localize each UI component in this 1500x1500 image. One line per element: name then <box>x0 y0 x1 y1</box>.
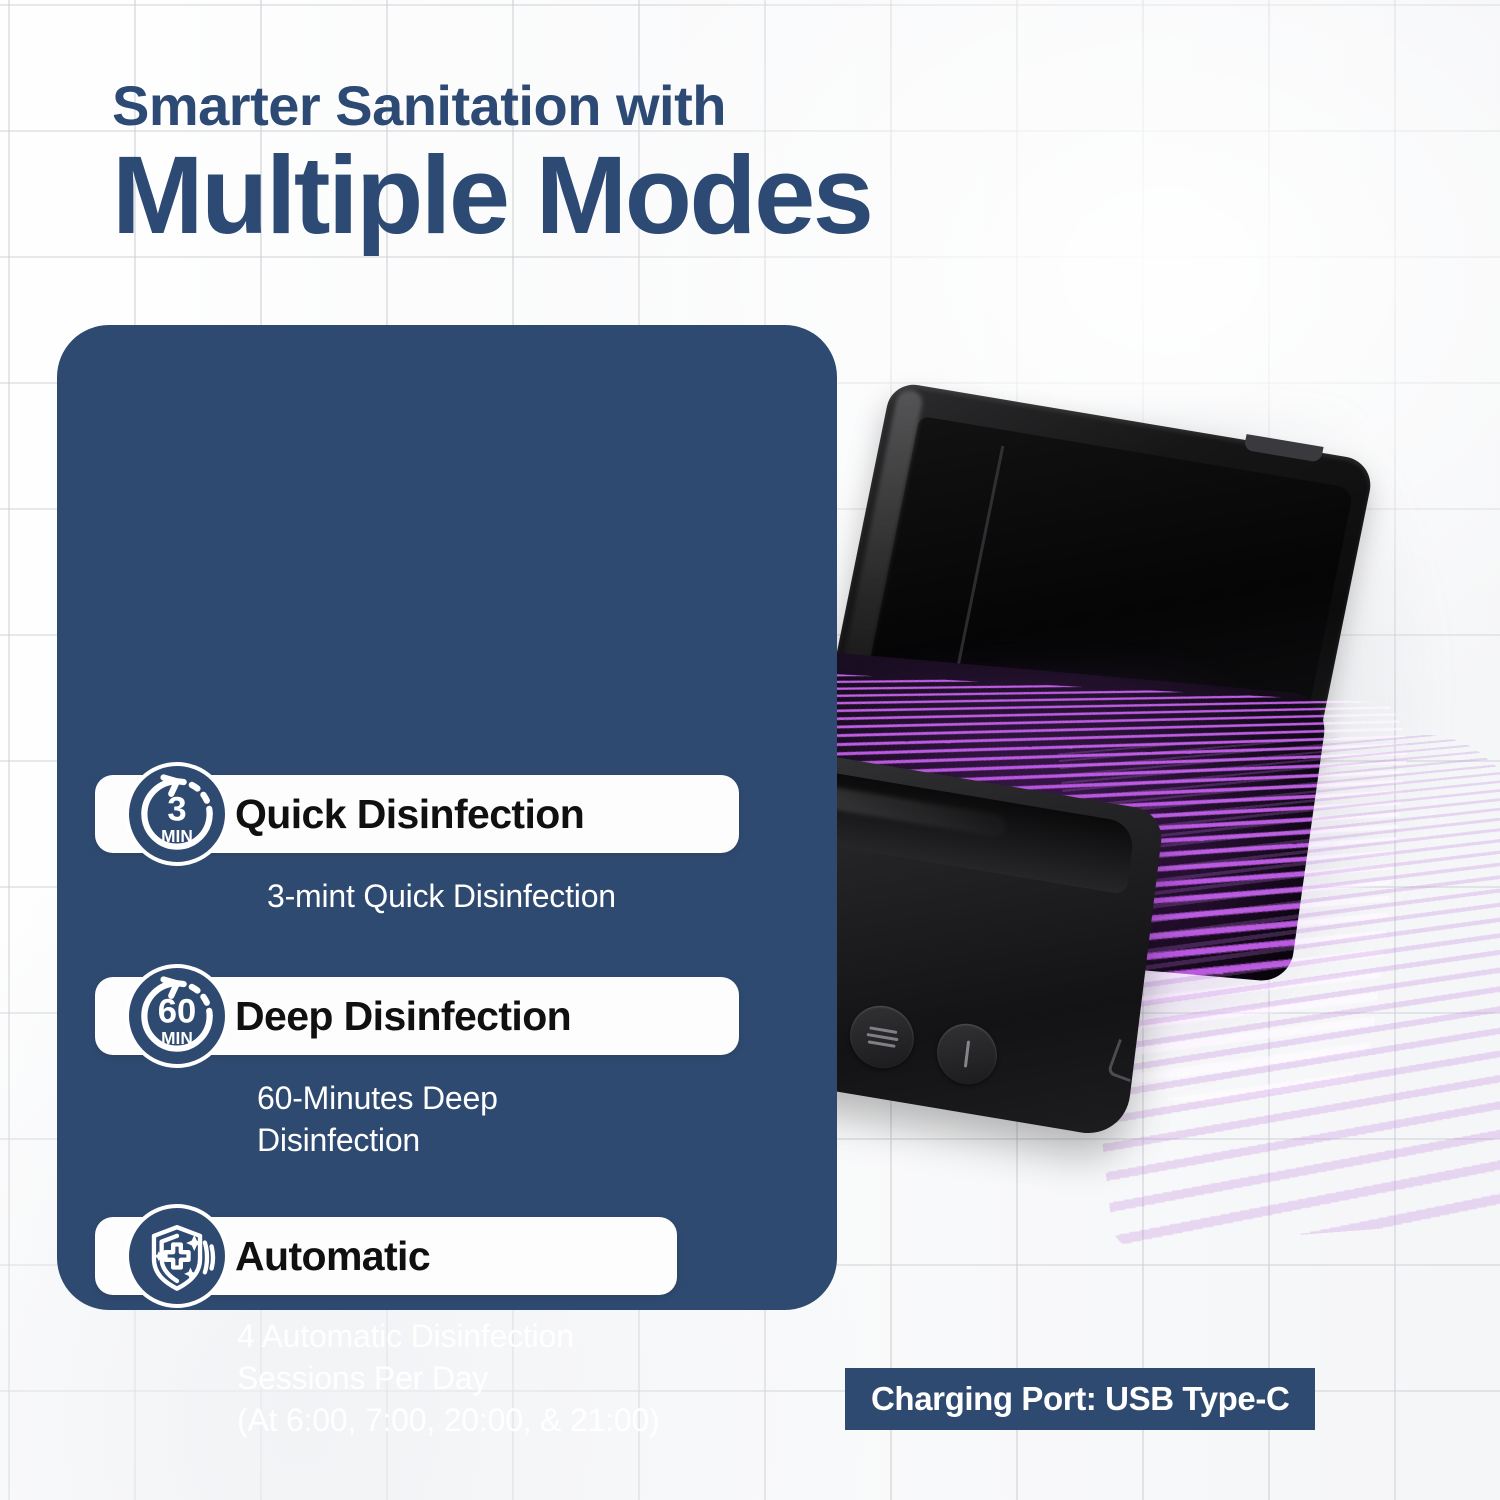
status-badge: Charging Port: USB Type-C <box>845 1368 1315 1430</box>
feature-description: 4 Automatic Disinfection Sessions Per Da… <box>237 1315 660 1442</box>
headline-line-1: Smarter Sanitation with <box>112 78 1112 134</box>
charging-port-label: Charging Port: USB Type-C <box>871 1380 1289 1418</box>
clock-arrow-3-min-icon: 3 MIN <box>125 762 229 866</box>
clock-arrow-60-min-icon: 60 MIN <box>125 964 229 1068</box>
headline-line-2: Multiple Modes <box>112 140 1112 252</box>
badge-value: 60 <box>158 993 196 1031</box>
feature-title: Automatic <box>235 1233 430 1280</box>
feature-panel: Quick Disinfection 3 MIN 3-mint Quick Di… <box>57 325 837 1310</box>
lines-icon <box>847 1001 918 1073</box>
mode-button[interactable] <box>847 1001 918 1073</box>
feature-description: 60-Minutes Deep Disinfection <box>257 1077 498 1161</box>
timer-button[interactable] <box>934 1019 1001 1088</box>
promo-infographic: Smarter Sanitation with Multiple Modes <box>0 0 1500 1500</box>
feature-title: Quick Disinfection <box>235 791 584 838</box>
vertical-bar-icon <box>934 1019 1001 1088</box>
page-title: Smarter Sanitation with Multiple Modes <box>112 78 1112 252</box>
feature-description: 3-mint Quick Disinfection <box>267 875 616 917</box>
feature-title: Deep Disinfection <box>235 993 571 1040</box>
badge-unit: MIN <box>161 1028 193 1048</box>
shield-plus-sparkle-icon <box>125 1204 229 1308</box>
badge-value: 3 <box>167 791 186 829</box>
badge-unit: MIN <box>161 826 193 846</box>
